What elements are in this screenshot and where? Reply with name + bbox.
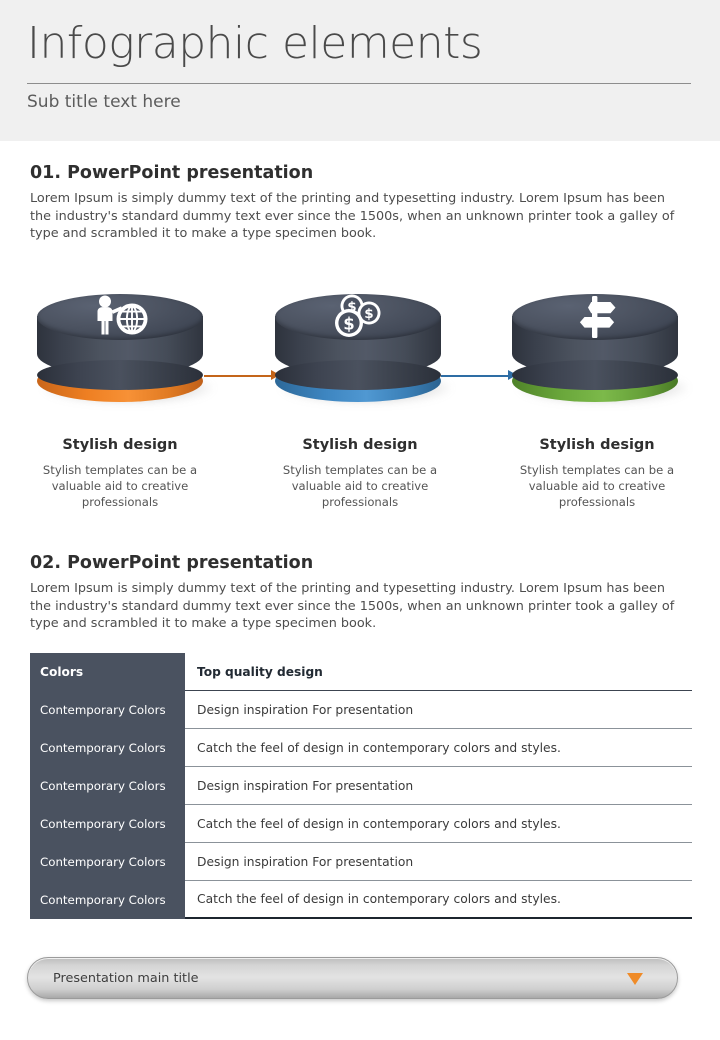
table-cell-color: Contemporary Colors [30,729,185,767]
connector-arrow-2 [441,370,517,381]
caption-2: Stylish design Stylish templates can be … [265,437,455,510]
connector-arrow-1 [204,370,280,381]
caption-1: Stylish design Stylish templates can be … [25,437,215,510]
table-cell-color: Contemporary Colors [30,843,185,881]
person-globe-icon [37,290,203,344]
connector-line [204,375,280,377]
table-cell-description: Design inspiration For presentation [185,843,692,881]
caption-title: Stylish design [502,437,692,453]
section-01-title: 01. PowerPoint presentation [30,163,313,183]
caption-body: Stylish templates can be a valuable aid … [265,462,455,510]
caption-title: Stylish design [25,437,215,453]
table-row: Contemporary ColorsCatch the feel of des… [30,805,692,843]
table-cell-color: Contemporary Colors [30,767,185,805]
data-table: ColorsTop quality designContemporary Col… [30,653,692,919]
table-cell-color: Contemporary Colors [30,691,185,729]
table-cell-description: Catch the feel of design in contemporary… [185,805,692,843]
table-row: Contemporary ColorsDesign inspiration Fo… [30,691,692,729]
page-title: Infographic elements [27,22,482,66]
table-row: Contemporary ColorsCatch the feel of des… [30,881,692,919]
cylinder-row: $ $ $ [0,276,720,426]
caption-body: Stylish templates can be a valuable aid … [25,462,215,510]
table-header-colors: Colors [30,653,185,691]
table-row: Contemporary ColorsDesign inspiration Fo… [30,767,692,805]
caption-title: Stylish design [265,437,455,453]
svg-text:$: $ [343,314,354,333]
table-header-quality: Top quality design [185,653,692,691]
presentation-title-label: Presentation main title [53,971,199,986]
presentation-title-bar[interactable]: Presentation main title [27,957,678,999]
table-cell-color: Contemporary Colors [30,881,185,919]
table-cell-description: Catch the feel of design in contemporary… [185,881,692,919]
caption-body: Stylish templates can be a valuable aid … [502,462,692,510]
table-row: Contemporary ColorsCatch the feel of des… [30,729,692,767]
header-band: Infographic elements Sub title text here [0,0,720,141]
section-01-paragraph: Lorem Ipsum is simply dummy text of the … [30,190,685,243]
svg-text:$: $ [364,306,373,322]
cylinder-1[interactable] [37,276,207,416]
table-cell-description: Design inspiration For presentation [185,691,692,729]
dollar-coins-icon: $ $ $ [275,290,441,344]
table-header-row: ColorsTop quality design [30,653,692,691]
connector-line [441,375,517,377]
cylinder-2[interactable]: $ $ $ [275,276,445,416]
header-divider [27,83,691,84]
caption-3: Stylish design Stylish templates can be … [502,437,692,510]
signpost-icon [512,290,678,344]
page-subtitle: Sub title text here [27,92,181,112]
table-cell-description: Catch the feel of design in contemporary… [185,729,692,767]
section-02-paragraph: Lorem Ipsum is simply dummy text of the … [30,580,685,633]
section-02-title: 02. PowerPoint presentation [30,553,313,573]
cylinder-3[interactable] [512,276,682,416]
triangle-down-icon[interactable] [627,973,643,985]
table-cell-color: Contemporary Colors [30,805,185,843]
table-cell-description: Design inspiration For presentation [185,767,692,805]
table-row: Contemporary ColorsDesign inspiration Fo… [30,843,692,881]
